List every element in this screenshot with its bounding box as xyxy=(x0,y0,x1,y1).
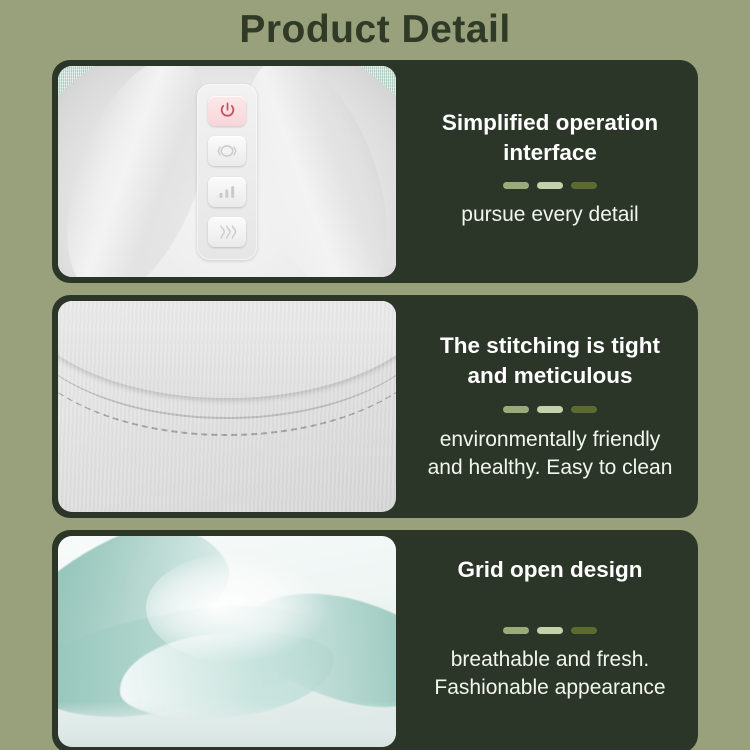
product-image-silk-fabric xyxy=(58,536,396,747)
product-image-stitching xyxy=(58,301,396,512)
detail-card-stitching: The stitching is tight and meticulous en… xyxy=(52,295,698,518)
card-text-pane: Grid open design breathable and fresh. F… xyxy=(402,530,698,750)
accent-dash-3 xyxy=(571,182,597,189)
photo-flowing-fabric xyxy=(58,536,396,747)
heat-button[interactable] xyxy=(208,217,246,247)
silk-bottom-fade xyxy=(58,701,396,747)
photo-control-panel xyxy=(58,66,396,277)
accent-dash-1 xyxy=(503,182,529,189)
power-button[interactable] xyxy=(208,96,246,126)
silk-highlight xyxy=(146,553,329,663)
detail-card-simplified-operation: Simplified operation interface pursue ev… xyxy=(52,60,698,283)
accent-dash-2 xyxy=(537,182,563,189)
heat-wave-icon xyxy=(217,224,238,241)
card-text-pane: Simplified operation interface pursue ev… xyxy=(402,60,698,283)
power-icon xyxy=(218,101,237,120)
control-pad xyxy=(197,84,257,260)
accent-dash-3 xyxy=(571,406,597,413)
product-detail-card-list: Simplified operation interface pursue ev… xyxy=(52,60,698,750)
card-heading: Simplified operation interface xyxy=(442,108,658,168)
fabric-grain-texture xyxy=(58,301,396,512)
rotation-icon xyxy=(217,142,237,160)
intensity-level-button[interactable] xyxy=(208,177,246,207)
page-title: Product Detail xyxy=(0,0,750,58)
accent-dash-1 xyxy=(503,627,529,634)
accent-dash-2 xyxy=(537,406,563,413)
accent-dash-group xyxy=(503,406,597,413)
accent-dash-3 xyxy=(571,627,597,634)
photo-fabric-seam xyxy=(58,301,396,512)
accent-dash-group xyxy=(503,182,597,189)
card-text-pane: The stitching is tight and meticulous en… xyxy=(402,295,698,518)
massage-mode-button[interactable] xyxy=(208,136,246,166)
card-subtitle: breathable and fresh. Fashionable appear… xyxy=(434,646,665,701)
level-bars-icon xyxy=(217,184,237,200)
detail-card-grid-open-design: Grid open design breathable and fresh. F… xyxy=(52,530,698,750)
accent-dash-1 xyxy=(503,406,529,413)
card-subtitle: pursue every detail xyxy=(461,201,638,229)
accent-dash-2 xyxy=(537,627,563,634)
accent-dash-group xyxy=(503,627,597,634)
product-image-control-panel xyxy=(58,66,396,277)
card-heading: Grid open design xyxy=(457,555,642,585)
card-subtitle: environmentally friendly and healthy. Ea… xyxy=(428,426,673,481)
card-heading: The stitching is tight and meticulous xyxy=(440,331,660,391)
